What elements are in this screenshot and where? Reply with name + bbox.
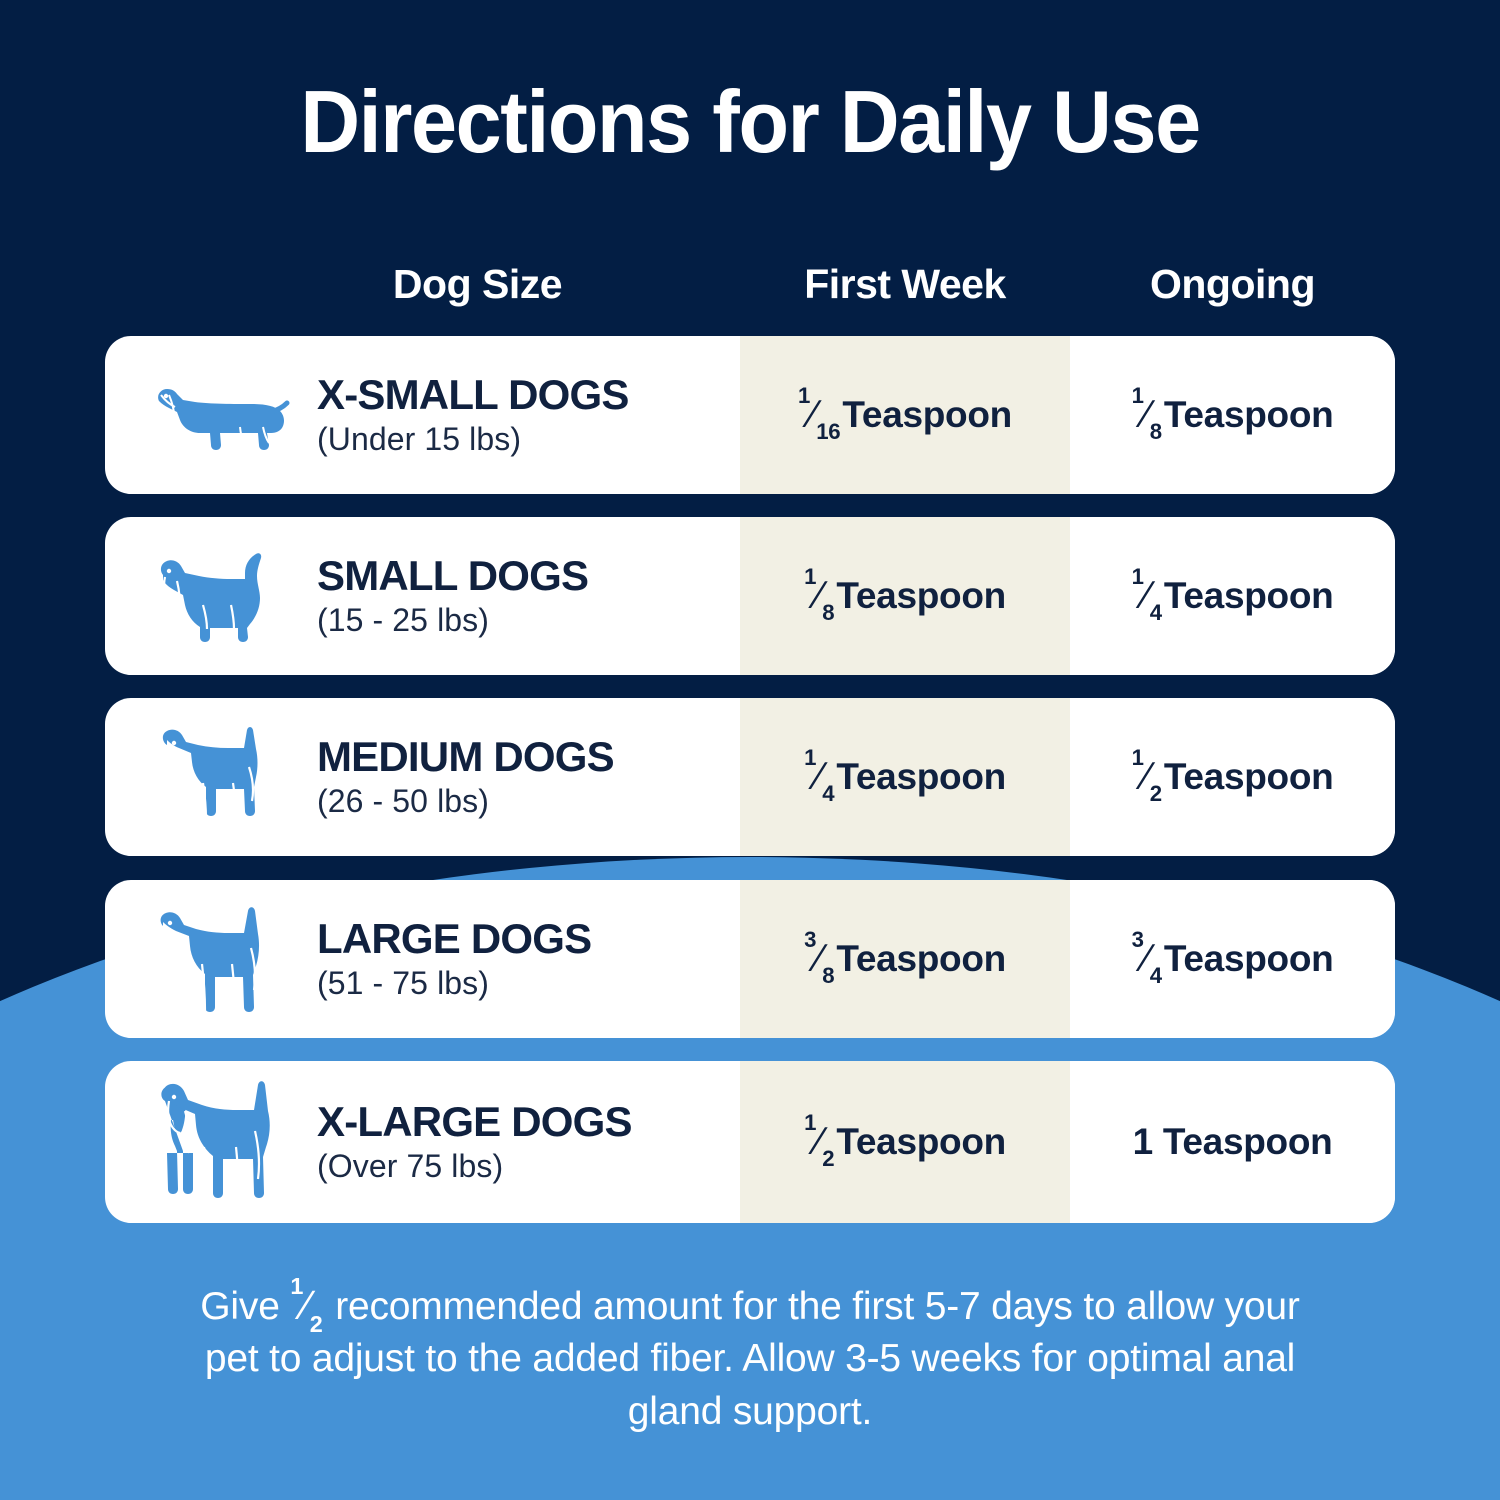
table-row: MEDIUM DOGS (26 - 50 lbs) 1⁄4 Teaspoon 1…: [105, 698, 1395, 856]
table-row: LARGE DOGS (51 - 75 lbs) 3⁄8 Teaspoon 3⁄…: [105, 880, 1395, 1038]
fraction-slash: ⁄: [1144, 393, 1150, 436]
pointer-dog-icon: [145, 900, 295, 1018]
fraction-numerator: 1: [804, 564, 816, 589]
fraction: 1⁄2: [290, 1278, 322, 1333]
fraction-denominator: 4: [822, 781, 834, 806]
dog-size-text: SMALL DOGS (15 - 25 lbs): [317, 553, 588, 640]
fraction: 3⁄8: [804, 937, 834, 981]
fraction-numerator: 1: [1132, 383, 1144, 408]
first-week-dose: 1⁄4 Teaspoon: [740, 698, 1070, 856]
dose-unit: Teaspoon: [836, 938, 1006, 980]
fraction: 1⁄4: [804, 755, 834, 799]
dose-unit: Teaspoon: [836, 756, 1006, 798]
dog-size-cell: X-SMALL DOGS (Under 15 lbs): [105, 336, 740, 494]
column-headers: Dog Size First Week Ongoing: [105, 255, 1395, 313]
fraction-denominator: 2: [1150, 781, 1162, 806]
dose-unit: Teaspoon: [1164, 575, 1334, 617]
dog-size-cell: LARGE DOGS (51 - 75 lbs): [105, 880, 740, 1038]
dog-size-name: SMALL DOGS: [317, 553, 588, 598]
fraction: 1⁄2: [804, 1120, 834, 1164]
dog-size-name: X-LARGE DOGS: [317, 1099, 632, 1144]
dog-size-weight: (Under 15 lbs): [317, 420, 629, 458]
dose-unit: Teaspoon: [1164, 756, 1334, 798]
dog-size-cell: X-LARGE DOGS (Over 75 lbs): [105, 1061, 740, 1223]
dog-size-weight: (26 - 50 lbs): [317, 782, 614, 820]
fraction-numerator: 3: [1132, 927, 1144, 952]
dog-size-name: X-SMALL DOGS: [317, 372, 629, 417]
table-row: X-LARGE DOGS (Over 75 lbs) 1⁄2 Teaspoon …: [105, 1061, 1395, 1223]
table-row: X-SMALL DOGS (Under 15 lbs) 1⁄16 Teaspoo…: [105, 336, 1395, 494]
fraction-slash: ⁄: [1144, 574, 1150, 617]
dog-size-text: LARGE DOGS (51 - 75 lbs): [317, 916, 591, 1003]
dose-unit: Teaspoon: [836, 575, 1006, 617]
dose-unit: Teaspoon: [1164, 938, 1334, 980]
dog-size-weight: (15 - 25 lbs): [317, 601, 588, 639]
dose-whole-number: 1: [1133, 1121, 1153, 1163]
dose-unit: Teaspoon: [1163, 1121, 1333, 1163]
ongoing-dose: 3⁄4 Teaspoon: [1070, 880, 1395, 1038]
dog-size-cell: SMALL DOGS (15 - 25 lbs): [105, 517, 740, 675]
fraction-numerator: 3: [804, 927, 816, 952]
basset-hound-dog-icon: [145, 537, 295, 655]
column-header-first-week: First Week: [740, 255, 1070, 313]
ongoing-dose: 1⁄8 Teaspoon: [1070, 336, 1395, 494]
beagle-dog-icon: [145, 718, 295, 836]
first-week-dose: 1⁄2 Teaspoon: [740, 1061, 1070, 1223]
footer-text-post: recommended amount for the first 5-7 day…: [205, 1285, 1300, 1433]
column-header-ongoing: Ongoing: [1070, 255, 1395, 313]
dog-size-text: X-LARGE DOGS (Over 75 lbs): [317, 1099, 632, 1186]
fraction-slash: ⁄: [1144, 755, 1150, 798]
dose-unit: Teaspoon: [842, 394, 1012, 436]
fraction-slash: ⁄: [303, 1282, 310, 1328]
fraction-denominator: 2: [822, 1146, 834, 1171]
fraction: 3⁄4: [1132, 937, 1162, 981]
ongoing-dose: 1⁄2 Teaspoon: [1070, 698, 1395, 856]
fraction: 1⁄8: [1132, 393, 1162, 437]
fraction: 1⁄8: [804, 574, 834, 618]
fraction-denominator: 2: [310, 1311, 323, 1337]
page-title: Directions for Daily Use: [45, 78, 1455, 166]
fraction-denominator: 4: [1150, 963, 1162, 988]
fraction-denominator: 8: [822, 600, 834, 625]
ongoing-dose: 1 Teaspoon: [1070, 1061, 1395, 1223]
fraction-numerator: 1: [1132, 745, 1144, 770]
dose-unit: Teaspoon: [836, 1121, 1006, 1163]
footer-note: Give 1⁄2 recommended amount for the firs…: [175, 1278, 1325, 1438]
column-header-dog-size: Dog Size: [105, 255, 740, 313]
fraction: 1⁄4: [1132, 574, 1162, 618]
bloodhound-dog-icon: [145, 1083, 295, 1201]
dog-size-text: MEDIUM DOGS (26 - 50 lbs): [317, 734, 614, 821]
dog-size-name: LARGE DOGS: [317, 916, 591, 961]
fraction: 1⁄16: [798, 393, 840, 437]
first-week-dose: 1⁄8 Teaspoon: [740, 517, 1070, 675]
dog-size-name: MEDIUM DOGS: [317, 734, 614, 779]
dose-unit: Teaspoon: [1164, 394, 1334, 436]
directions-infographic: Directions for Daily Use Dog Size First …: [0, 0, 1500, 1500]
fraction-numerator: 1: [290, 1273, 303, 1299]
footer-text-pre: Give: [200, 1285, 290, 1328]
first-week-dose: 3⁄8 Teaspoon: [740, 880, 1070, 1038]
dog-size-text: X-SMALL DOGS (Under 15 lbs): [317, 372, 629, 459]
dog-size-weight: (51 - 75 lbs): [317, 964, 591, 1002]
fraction-denominator: 8: [822, 963, 834, 988]
dachshund-dog-icon: [145, 356, 295, 474]
fraction: 1⁄2: [1132, 755, 1162, 799]
fraction-numerator: 1: [1132, 564, 1144, 589]
dog-size-weight: (Over 75 lbs): [317, 1147, 632, 1185]
fraction-slash: ⁄: [1144, 937, 1150, 980]
table-row: SMALL DOGS (15 - 25 lbs) 1⁄8 Teaspoon 1⁄…: [105, 517, 1395, 675]
fraction-denominator: 8: [1150, 419, 1162, 444]
fraction-denominator: 16: [816, 419, 840, 444]
fraction-denominator: 4: [1150, 600, 1162, 625]
fraction-numerator: 1: [798, 383, 810, 408]
ongoing-dose: 1⁄4 Teaspoon: [1070, 517, 1395, 675]
fraction-numerator: 1: [804, 1110, 816, 1135]
first-week-dose: 1⁄16 Teaspoon: [740, 336, 1070, 494]
dog-size-cell: MEDIUM DOGS (26 - 50 lbs): [105, 698, 740, 856]
fraction-numerator: 1: [804, 745, 816, 770]
